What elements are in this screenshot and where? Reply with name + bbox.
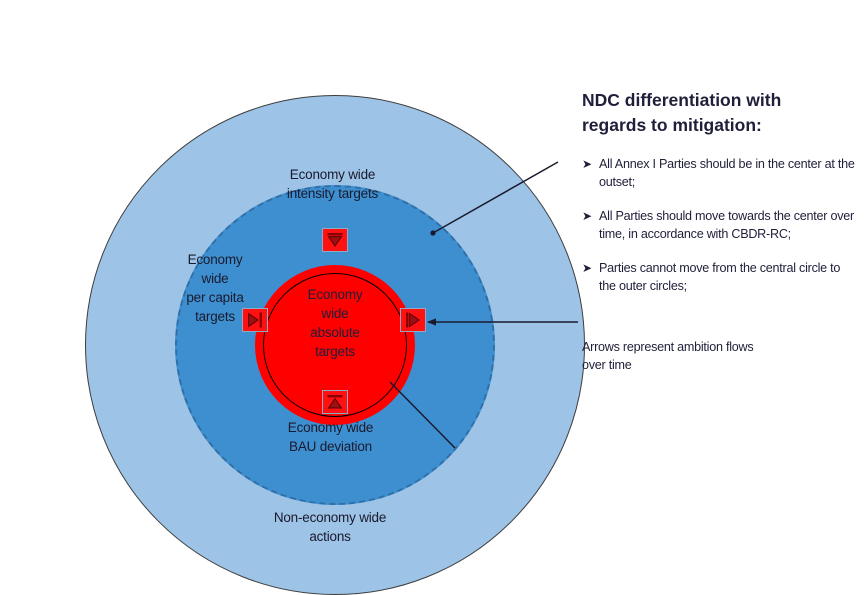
label-non-economy-wide-actions: Non-economy wide actions (215, 508, 445, 546)
ambition-flow-marker-north[interactable] (322, 228, 348, 252)
footnote-arrows-legend: Arrows represent ambition flows over tim… (582, 339, 860, 374)
ambition-flow-marker-west[interactable] (242, 308, 268, 332)
arrow-bullet-icon: ➤ (582, 156, 599, 173)
bullet-text-1: All Annex I Parties should be in the cen… (599, 156, 860, 191)
list-item: ➤ Parties cannot move from the central c… (582, 260, 860, 295)
list-item: ➤ All Annex I Parties should be in the c… (582, 156, 860, 191)
bullet-text-3: Parties cannot move from the central cir… (599, 260, 860, 295)
arrow-bullet-icon: ➤ (582, 208, 599, 225)
triangle-right-icon (247, 311, 263, 329)
label-economy-wide-absolute-targets: Economy wide absolute targets (282, 285, 388, 361)
label-economy-wide-intensity-targets: Economy wide intensity targets (230, 165, 435, 203)
triangle-up-icon (326, 394, 344, 410)
label-economy-wide-bau-deviation: Economy wide BAU deviation (228, 418, 433, 456)
ambition-flow-marker-east[interactable] (400, 308, 426, 332)
bullet-text-2: All Parties should move towards the cent… (599, 208, 860, 243)
diagram-canvas: Economy wide intensity targets Economy w… (0, 0, 867, 588)
arrow-bullet-icon: ➤ (582, 260, 599, 277)
triangle-down-icon (326, 232, 344, 248)
triangle-left-icon (405, 311, 421, 329)
list-item: ➤ All Parties should move towards the ce… (582, 208, 860, 243)
ambition-flow-marker-south[interactable] (322, 390, 348, 414)
panel-heading: NDC differentiation with regards to miti… (582, 88, 860, 138)
explanation-panel: NDC differentiation with regards to miti… (582, 88, 860, 374)
